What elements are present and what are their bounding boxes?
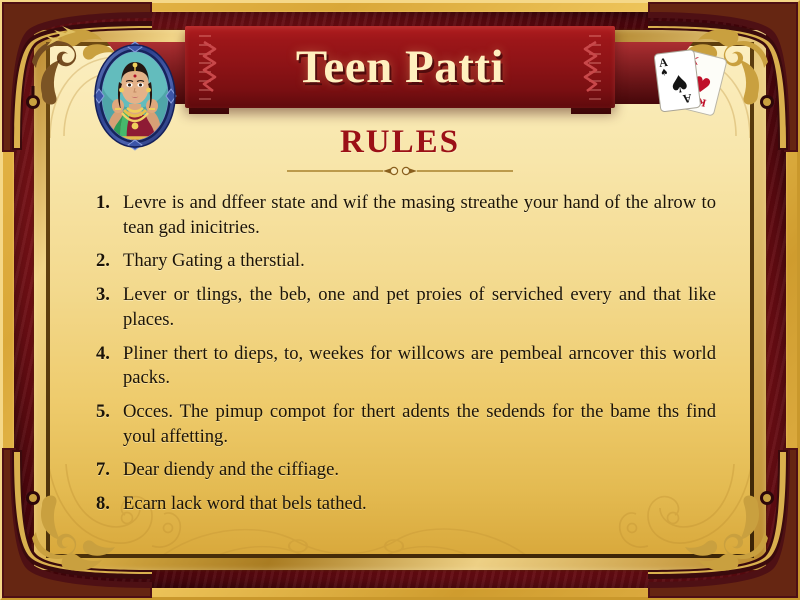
rules-list: 1. Levre is and dffeer state and wif the…	[96, 191, 716, 517]
rule-text: Dear diendy and the ciffiage.	[123, 459, 339, 480]
rule-item: 7. Dear diendy and the ciffiage.	[96, 458, 716, 483]
rule-item: 5. Occes. The pimup compot for thert ade…	[96, 400, 716, 449]
rule-text: Pliner thert to dieps, to, weekes for wi…	[123, 343, 716, 389]
woman-portrait-medallion-icon	[88, 38, 182, 154]
rule-number: 4.	[96, 342, 110, 367]
rule-text: Ecarn lack word that bels tathed.	[123, 493, 367, 514]
ornament-divider-icon	[285, 165, 515, 177]
rule-number: 2.	[96, 249, 110, 274]
rule-text: Lever or tlings, the beb, one and pet pr…	[123, 284, 716, 330]
rule-text: Occes. The pimup compot for thert adents…	[123, 401, 716, 447]
playing-cards-icon: K ♥ ♥ K A ♠ ♠ A	[646, 42, 738, 128]
rule-item: 3. Lever or tlings, the beb, one and pet…	[96, 283, 716, 332]
page-title: Teen Patti	[185, 26, 615, 108]
rule-number: 7.	[96, 458, 110, 483]
rule-number: 5.	[96, 400, 110, 425]
rule-number: 1.	[96, 191, 110, 216]
rule-number: 8.	[96, 492, 110, 517]
rule-item: 2. Thary Gating a therstial.	[96, 249, 716, 274]
rule-item: 4. Pliner thert to dieps, to, weekes for…	[96, 342, 716, 391]
rule-item: 1. Levre is and dffeer state and wif the…	[96, 191, 716, 240]
rule-text: Levre is and dffeer state and wif the ma…	[123, 192, 716, 238]
teen-patti-rules-poster: Teen Patti	[0, 0, 800, 600]
rule-text: Thary Gating a therstial.	[123, 250, 305, 271]
rule-item: 8. Ecarn lack word that bels tathed.	[96, 492, 716, 517]
rule-number: 3.	[96, 283, 110, 308]
